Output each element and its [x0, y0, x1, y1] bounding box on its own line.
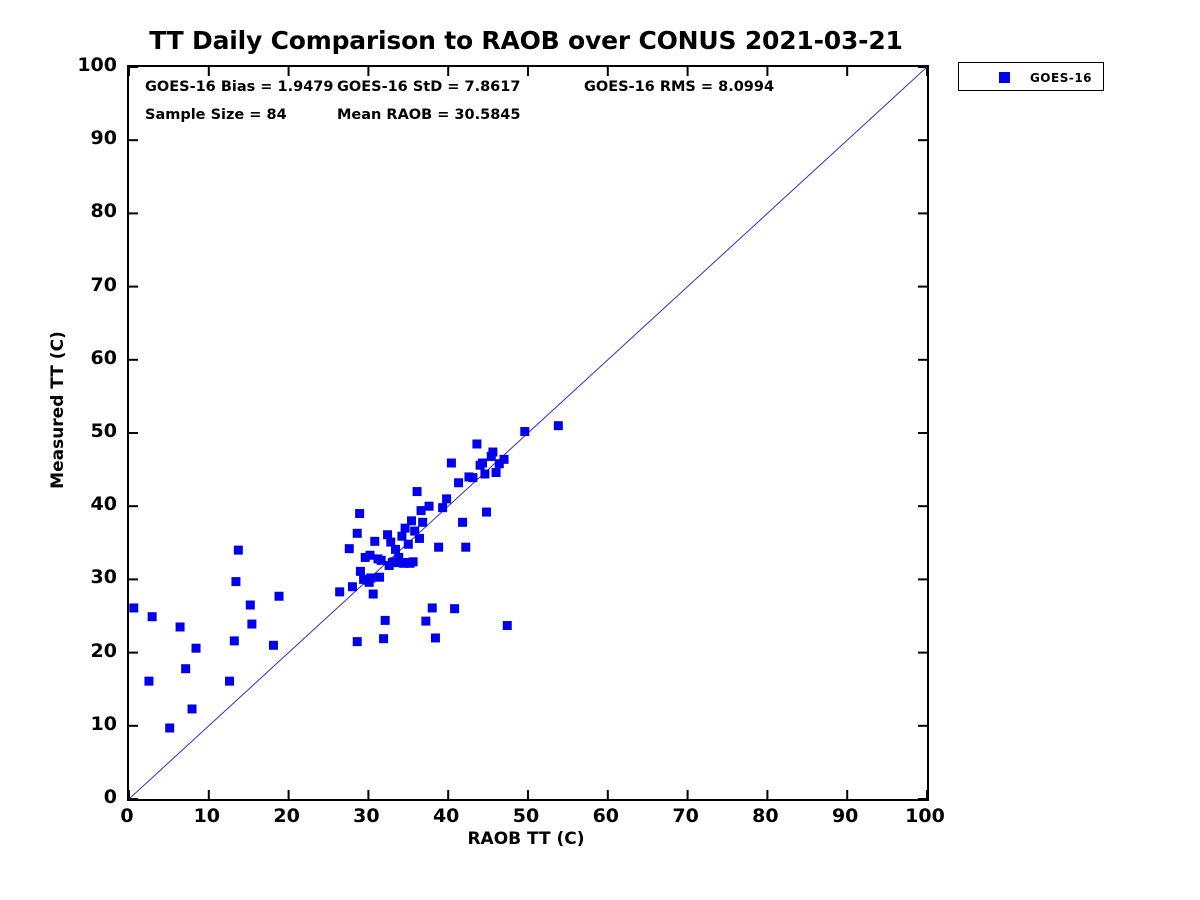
scatter-point	[503, 621, 512, 630]
scatter-point	[438, 503, 447, 512]
bias-annotation: GOES-16 Bias = 1.9479	[145, 79, 333, 95]
scatter-point	[468, 473, 477, 482]
scatter-point	[421, 617, 430, 626]
scatter-point	[454, 478, 463, 487]
x-tick-label-70: 70	[651, 807, 721, 826]
x-tick-label-60: 60	[571, 807, 641, 826]
scatter-point	[353, 529, 362, 538]
scatter-point	[450, 604, 459, 613]
legend: GOES-16	[958, 62, 1104, 91]
scatter-point	[335, 587, 344, 596]
scatter-point	[275, 592, 284, 601]
scatter-point	[246, 601, 255, 610]
scatter-point	[425, 502, 434, 511]
scatter-point	[458, 518, 467, 527]
scatter-point	[492, 468, 501, 477]
scatter-point	[345, 544, 354, 553]
y-tick-label-100: 100	[65, 56, 117, 75]
scatter-point	[404, 540, 413, 549]
scatter-point	[482, 508, 491, 517]
scatter-point	[418, 518, 427, 527]
scatter-point	[366, 573, 375, 582]
scatter-point	[356, 567, 365, 576]
scatter-point	[417, 506, 426, 515]
scatter-point	[365, 551, 374, 560]
scatter-point	[192, 644, 201, 653]
scatter-point	[478, 459, 487, 468]
y-tick-label-10: 10	[65, 715, 117, 734]
scatter-point	[409, 557, 418, 566]
scatter-point	[370, 537, 379, 546]
scatter-point	[442, 494, 451, 503]
scatter-point	[520, 427, 529, 436]
scatter-point	[397, 532, 406, 541]
scatter-point	[225, 677, 234, 686]
scatter-point	[375, 573, 384, 582]
x-tick-label-40: 40	[411, 807, 481, 826]
scatter-point	[188, 704, 197, 713]
y-tick-label-50: 50	[65, 422, 117, 441]
x-tick-label-80: 80	[730, 807, 800, 826]
scatter-point	[231, 577, 240, 586]
page-title: TT Daily Comparison to RAOB over CONUS 2…	[127, 26, 925, 55]
std-annotation: GOES-16 StD = 7.8617	[337, 79, 520, 95]
y-tick-label-40: 40	[65, 495, 117, 514]
scatter-point	[461, 543, 470, 552]
scatter-point	[428, 603, 437, 612]
x-tick-label-20: 20	[252, 807, 322, 826]
scatter-point	[500, 455, 509, 464]
x-axis-label: RAOB TT (C)	[127, 829, 925, 849]
scatter-point	[391, 545, 400, 554]
rms-annotation: GOES-16 RMS = 8.0994	[584, 79, 774, 95]
y-tick-label-20: 20	[65, 642, 117, 661]
scatter-point	[369, 590, 378, 599]
x-tick-label-10: 10	[172, 807, 242, 826]
scatter-point	[234, 546, 243, 555]
scatter-point	[353, 637, 362, 646]
x-tick-label-0: 0	[92, 807, 162, 826]
scatter-point	[377, 556, 386, 565]
scatter-plot-figure: TT Daily Comparison to RAOB over CONUS 2…	[0, 0, 1200, 900]
scatter-point	[554, 421, 563, 430]
x-tick-label-100: 100	[890, 807, 960, 826]
scatter-point	[269, 641, 278, 650]
y-tick-label-0: 0	[65, 788, 117, 807]
y-tick-label-90: 90	[65, 129, 117, 148]
scatter-point	[247, 620, 256, 629]
x-tick-label-50: 50	[491, 807, 561, 826]
scatter-point	[348, 582, 357, 591]
scatter-point	[129, 603, 138, 612]
y-tick-label-70: 70	[65, 276, 117, 295]
scatter-point	[165, 723, 174, 732]
mean-raob-annotation: Mean RAOB = 30.5845	[337, 107, 520, 123]
scatter-series-goes-16	[129, 421, 563, 732]
scatter-point	[472, 439, 481, 448]
scatter-point	[379, 634, 388, 643]
x-tick-label-90: 90	[810, 807, 880, 826]
scatter-point	[447, 459, 456, 468]
plot-canvas	[129, 67, 927, 799]
scatter-point	[144, 677, 153, 686]
scatter-point	[488, 448, 497, 457]
scatter-point	[181, 664, 190, 673]
scatter-point	[480, 469, 489, 478]
scatter-point	[413, 487, 422, 496]
plot-area: GOES-16 Bias = 1.9479 GOES-16 StD = 7.86…	[127, 65, 929, 801]
scatter-point	[434, 543, 443, 552]
y-axis-label: Measured TT (C)	[48, 310, 68, 510]
scatter-point	[407, 516, 416, 525]
y-tick-label-30: 30	[65, 568, 117, 587]
scatter-point	[148, 612, 157, 621]
scatter-point	[431, 633, 440, 642]
scatter-point	[230, 636, 239, 645]
legend-label-goes-16: GOES-16	[1021, 71, 1101, 85]
x-tick-label-30: 30	[331, 807, 401, 826]
scatter-point	[381, 616, 390, 625]
y-tick-label-80: 80	[65, 202, 117, 221]
scatter-point	[355, 509, 364, 518]
scatter-point	[415, 534, 424, 543]
sample-size-annotation: Sample Size = 84	[145, 107, 287, 123]
y-tick-label-60: 60	[65, 349, 117, 368]
scatter-point	[176, 622, 185, 631]
legend-marker-goes-16	[999, 72, 1010, 83]
